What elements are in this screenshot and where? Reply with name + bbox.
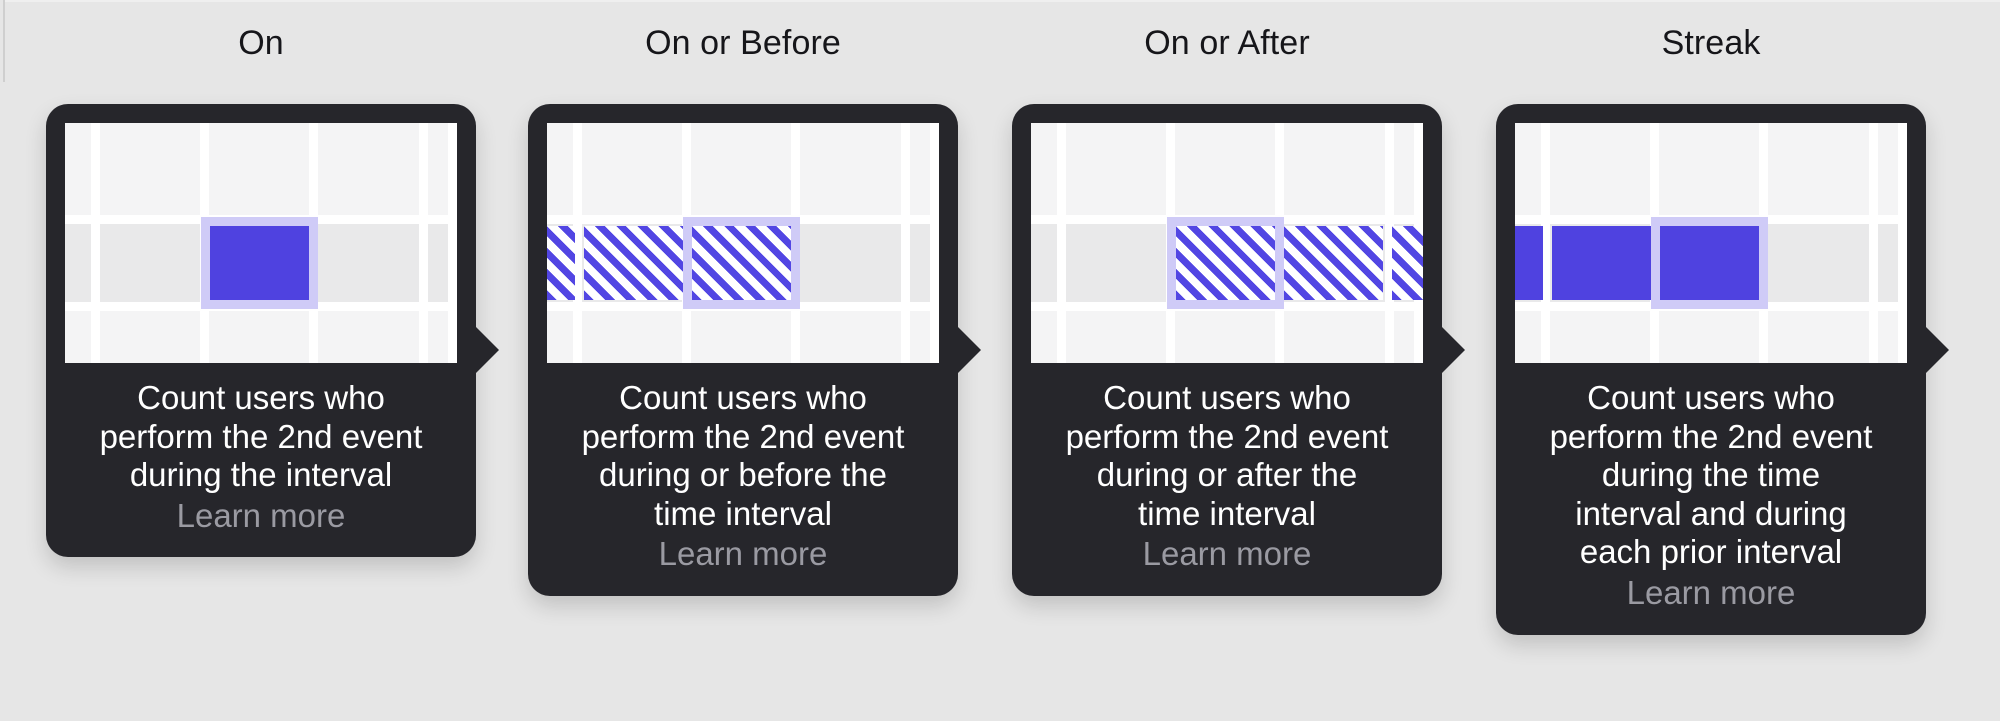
tooltip-card-streak[interactable]: Count users who perform the 2nd event du… bbox=[1496, 104, 1926, 635]
event-bar-hatched-prior-a bbox=[547, 226, 575, 300]
illustration-marks bbox=[1031, 123, 1423, 363]
card-description-on-or-before: Count users who perform the 2nd event du… bbox=[528, 363, 958, 533]
card-arrow-icon bbox=[1925, 326, 1949, 374]
illustration-marks bbox=[547, 123, 939, 363]
top-divider bbox=[3, 0, 2000, 2]
event-bar-hatched-current bbox=[692, 226, 791, 300]
illustration-on-or-before bbox=[547, 123, 939, 363]
event-bar-solid-current bbox=[1660, 226, 1759, 300]
learn-more-link-streak[interactable]: Learn more bbox=[1496, 572, 1926, 635]
column-title-streak: Streak bbox=[1496, 26, 1926, 60]
card-description-on: Count users who perform the 2nd event du… bbox=[46, 363, 476, 495]
card-arrow-icon bbox=[1441, 326, 1465, 374]
tooltip-card-on-or-before[interactable]: Count users who perform the 2nd event du… bbox=[528, 104, 958, 596]
event-bar-solid-prior-b bbox=[1552, 226, 1651, 300]
card-description-streak: Count users who perform the 2nd event du… bbox=[1496, 363, 1926, 572]
event-bar-hatched-current bbox=[1176, 226, 1275, 300]
tooltip-card-on-or-after[interactable]: Count users who perform the 2nd event du… bbox=[1012, 104, 1442, 596]
illustration-streak bbox=[1515, 123, 1907, 363]
event-bar-solid-prior-a bbox=[1515, 226, 1543, 300]
card-arrow-icon bbox=[475, 326, 499, 374]
illustration-marks bbox=[1515, 123, 1907, 363]
left-divider bbox=[3, 0, 5, 82]
comparison-panel: On bbox=[0, 0, 2000, 721]
column-title-on: On bbox=[46, 26, 476, 60]
card-description-on-or-after: Count users who perform the 2nd event du… bbox=[1012, 363, 1442, 533]
card-arrow-icon bbox=[957, 326, 981, 374]
event-bar-hatched-next-a bbox=[1284, 226, 1383, 300]
learn-more-link-on[interactable]: Learn more bbox=[46, 495, 476, 558]
tooltip-card-on[interactable]: Count users who perform the 2nd event du… bbox=[46, 104, 476, 557]
illustration-marks bbox=[65, 123, 457, 363]
column-title-on-or-before: On or Before bbox=[528, 26, 958, 60]
illustration-on-or-after bbox=[1031, 123, 1423, 363]
column-title-on-or-after: On or After bbox=[1012, 26, 1442, 60]
illustration-on bbox=[65, 123, 457, 363]
learn-more-link-on-or-before[interactable]: Learn more bbox=[528, 533, 958, 596]
event-bar-solid bbox=[210, 226, 309, 300]
learn-more-link-on-or-after[interactable]: Learn more bbox=[1012, 533, 1442, 596]
event-bar-hatched-next-b bbox=[1392, 226, 1423, 300]
event-bar-hatched-prior-b bbox=[584, 226, 683, 300]
